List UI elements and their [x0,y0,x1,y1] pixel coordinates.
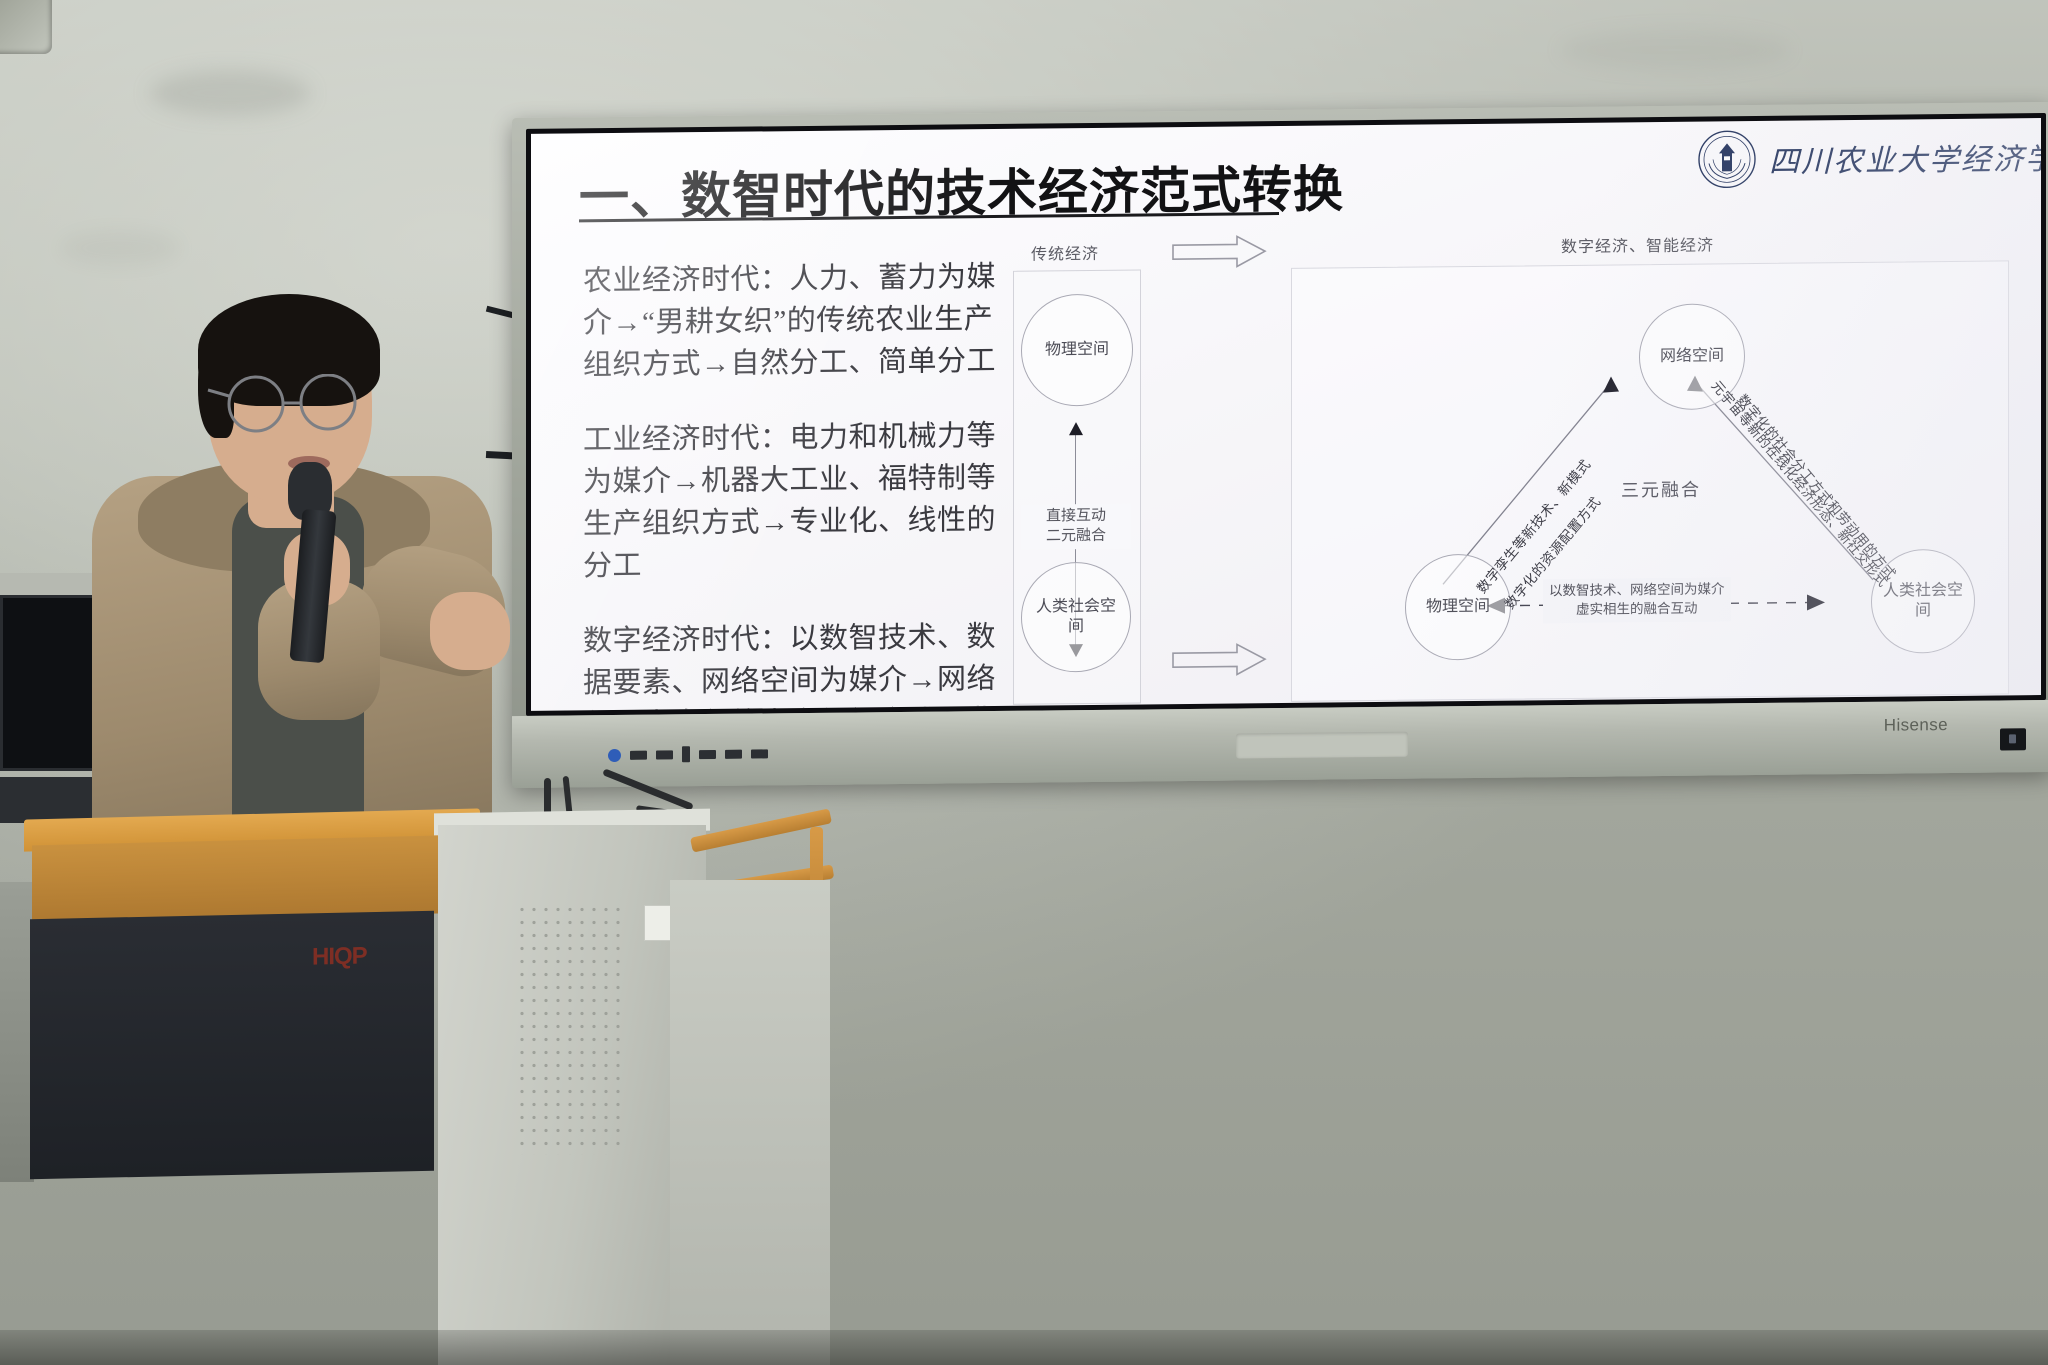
presenter-glasses-icon [204,374,384,436]
display-brand-label: Hisense [1884,715,1948,736]
paradigm-diagram: 传统经济 物理空间 直接互动 二元融合 人类社会空间 [1001,222,2021,711]
wall-smudge-2 [1560,30,1790,70]
presenter [92,280,512,840]
node-physical-space-left: 物理空间 [1021,294,1133,407]
menu-button-icon[interactable] [630,750,647,759]
wall-smudge-3 [60,230,180,266]
display-speaker-grille [1236,732,1408,759]
interactive-display[interactable]: 一、数智时代的技术经济范式转换 四川农业大学经济 [512,102,2048,788]
ir-receiver-window [2000,728,2026,750]
paragraph-digital-era: 数字经济时代：以数智技术、数据要素、网络空间为媒介→网络化、生态化的生产组织方式… [583,617,1003,711]
university-logo-block: 四川农业大学经济学 [1697,126,2041,190]
power-button-icon[interactable] [608,748,621,761]
display-screen[interactable]: 一、数智时代的技术经济范式转换 四川农业大学经济 [531,118,2041,711]
display-button-row[interactable] [608,745,768,763]
presenter-hand-right [430,592,510,670]
lectern-brand-logo: HIQP [312,942,367,971]
paragraph-agricultural-era: 农业经济时代：人力、蓄力为媒介→“男耕女织”的传统农业生产组织方式→自然分工、简… [583,257,1003,387]
cabinet-vent-grid [516,903,622,1155]
transition-arrow-bottom-icon [1171,642,1267,677]
university-seal-icon [1697,129,1757,190]
slide-body-text: 农业经济时代：人力、蓄力为媒介→“男耕女织”的传统农业生产组织方式→自然分工、简… [583,257,1003,711]
paragraph-industrial-era: 工业经济时代：电力和机械力等为媒介→机器大工业、福特制等生产组织方式→专业化、线… [583,416,1003,587]
channel-button-icon[interactable] [751,749,768,758]
left-edge-arrow-up-icon [1069,422,1083,435]
source-button-icon[interactable] [656,750,673,759]
left-diagram-caption: 传统经济 [1031,240,1099,265]
right-desk-panel [670,880,830,1365]
university-name: 四川农业大学经济学 [1769,134,2041,181]
ceiling-vent [0,0,52,54]
center-label-trinity: 三元融合 [1621,476,1701,503]
lectern-front-wood [32,835,472,924]
photo-scene: 一、数智时代的技术经济范式转换 四川农业大学经济 [0,0,2048,1365]
lectern-side-panel [0,882,34,1182]
wall-smudge-1 [150,70,310,116]
volume-up-button-icon[interactable] [725,749,742,758]
right-diagram-caption: 数字经济、智能经济 [1561,231,1714,257]
presentation-slide: 一、数智时代的技术经济范式转换 四川农业大学经济 [531,118,2041,711]
volume-down-button-icon[interactable] [699,749,716,758]
left-edge-label-line2: 二元融合 [1046,527,1106,545]
usb-port-icon[interactable] [682,746,690,762]
left-edge-label: 直接互动 二元融合 [1021,504,1131,550]
bottom-edge-label-line1: 以数智技术、网络空间为媒介 [1549,581,1725,598]
bottom-edge-label: 以数智技术、网络空间为媒介 虚实相生的融合互动 [1543,577,1731,623]
floor-shadow [0,1330,2048,1365]
transition-arrow-top-icon [1171,234,1267,269]
lectern-front-panel [30,911,434,1179]
bottom-edge-label-line2: 虚实相生的融合互动 [1576,601,1698,617]
left-edge-label-line1: 直接互动 [1046,507,1106,525]
lectern: HIQP [0,810,486,1365]
